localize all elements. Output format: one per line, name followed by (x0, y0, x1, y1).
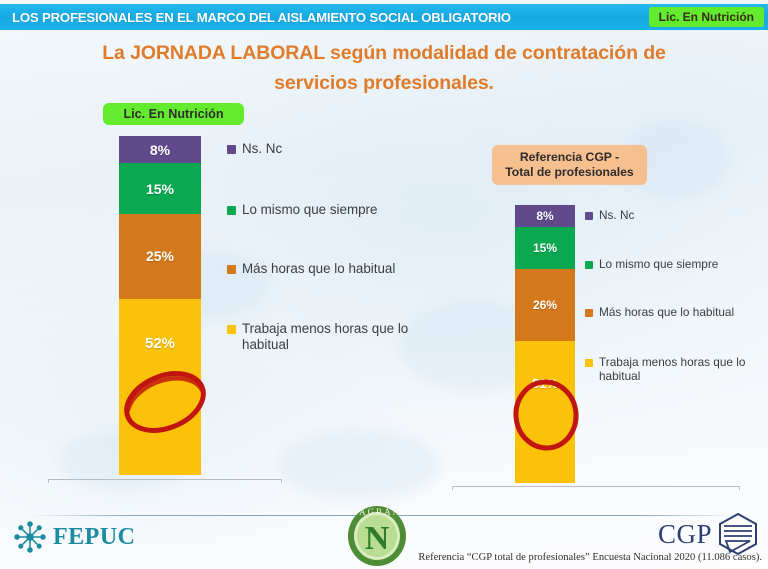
cgp-hexagon-icon (716, 512, 760, 556)
cgp-label: CGP (658, 519, 712, 550)
legend-item-menos-horas: Trabaja menos horas que lo habitual (227, 321, 442, 353)
left-chart-axis-tick (281, 479, 282, 483)
left-chart-badge: Lic. En Nutrición (103, 103, 244, 125)
legend-swatch-lo-mismo (227, 206, 236, 215)
legend-label: Ns. Nc (599, 208, 634, 222)
page-title-line-1: La JORNADA LABORAL según modalidad de co… (102, 42, 666, 64)
legend-label: Trabaja menos horas que lo habitual (242, 321, 442, 353)
bar-segment-label: 52% (145, 335, 175, 352)
legend-item-ns-nc: Ns. Nc (585, 208, 634, 222)
fepuc-logo: FEPUC (12, 519, 136, 555)
legend-label: Trabaja menos horas que lo habitual (599, 355, 759, 383)
legend-label: Más horas que lo habitual (242, 261, 395, 277)
legend-item-mas-horas: Más horas que lo habitual (585, 305, 734, 319)
header-bar: LOS PROFESIONALES EN EL MARCO DEL AISLAM… (0, 4, 768, 30)
bar-segment-lo-mismo: 15% (515, 227, 575, 269)
legend-item-mas-horas: Más horas que lo habitual (227, 261, 395, 277)
right-chart-axis-line (452, 486, 740, 487)
bar-segment-menos-horas: 52% (119, 299, 201, 475)
legend-swatch-mas-horas (227, 265, 236, 274)
legend-label: Ns. Nc (242, 141, 282, 157)
legend-swatch-lo-mismo (585, 261, 593, 269)
header-badge: Lic. En Nutrición (649, 7, 764, 27)
bar-segment-label: 8% (150, 142, 170, 158)
right-chart-badge-line-2: Total de profesionales (505, 165, 633, 179)
legend-item-menos-horas: Trabaja menos horas que lo habitual (585, 355, 759, 383)
legend-item-lo-mismo: Lo mismo que siempre (585, 257, 718, 271)
legend-label: Más horas que lo habitual (599, 305, 734, 319)
bar-segment-label: 26% (533, 298, 557, 312)
fepuc-wheel-icon (12, 519, 48, 555)
fepuc-label: FEPUC (53, 524, 136, 551)
bar-segment-lo-mismo: 15% (119, 163, 201, 214)
background-blob (280, 430, 440, 500)
right-chart-axis-tick (739, 486, 740, 490)
bar-segment-label: 25% (146, 248, 174, 264)
bar-segment-label: 51% (532, 376, 558, 391)
right-chart-axis-tick (452, 486, 453, 490)
right-stacked-bar: 8% 15% 26% 51% (515, 205, 575, 483)
bar-segment-label: 15% (146, 181, 174, 197)
footer-reference: Referencia “CGP total de profesionales” … (418, 552, 762, 563)
legend-item-ns-nc: Ns. Nc (227, 141, 282, 157)
svg-text:FAGRAN: FAGRAN (353, 507, 401, 517)
legend-label: Lo mismo que siempre (242, 202, 377, 218)
bar-segment-mas-horas: 25% (119, 214, 201, 299)
bar-segment-label: 8% (536, 209, 553, 223)
bar-segment-label: 15% (533, 241, 557, 255)
legend-item-lo-mismo: Lo mismo que siempre (227, 202, 377, 218)
page-title: La JORNADA LABORAL según modalidad de co… (58, 38, 710, 98)
fagran-emblem-icon: N FAGRAN (337, 505, 417, 567)
bar-segment-mas-horas: 26% (515, 269, 575, 341)
svg-text:N: N (365, 520, 390, 557)
left-stacked-bar: 8% 15% 25% 52% (119, 136, 201, 475)
legend-swatch-mas-horas (585, 309, 593, 317)
bar-segment-ns-nc: 8% (515, 205, 575, 227)
right-chart-badge-line-1: Referencia CGP - (520, 150, 619, 164)
bar-segment-menos-horas: 51% (515, 341, 575, 483)
right-chart-badge: Referencia CGP - Total de profesionales (492, 145, 647, 185)
header-title: LOS PROFESIONALES EN EL MARCO DEL AISLAM… (12, 10, 511, 25)
legend-label: Lo mismo que siempre (599, 257, 718, 271)
fagran-logo: N FAGRAN (337, 505, 417, 569)
bar-segment-ns-nc: 8% (119, 136, 201, 163)
left-chart-axis-line (48, 479, 282, 480)
legend-swatch-ns-nc (585, 212, 593, 220)
legend-swatch-ns-nc (227, 145, 236, 154)
left-chart-axis-tick (48, 479, 49, 483)
page-title-line-2: servicios profesionales. (274, 72, 494, 94)
legend-swatch-menos-horas (585, 359, 593, 367)
cgp-logo: CGP (658, 512, 760, 556)
slide-canvas: LOS PROFESIONALES EN EL MARCO DEL AISLAM… (0, 0, 768, 569)
legend-swatch-menos-horas (227, 325, 236, 334)
